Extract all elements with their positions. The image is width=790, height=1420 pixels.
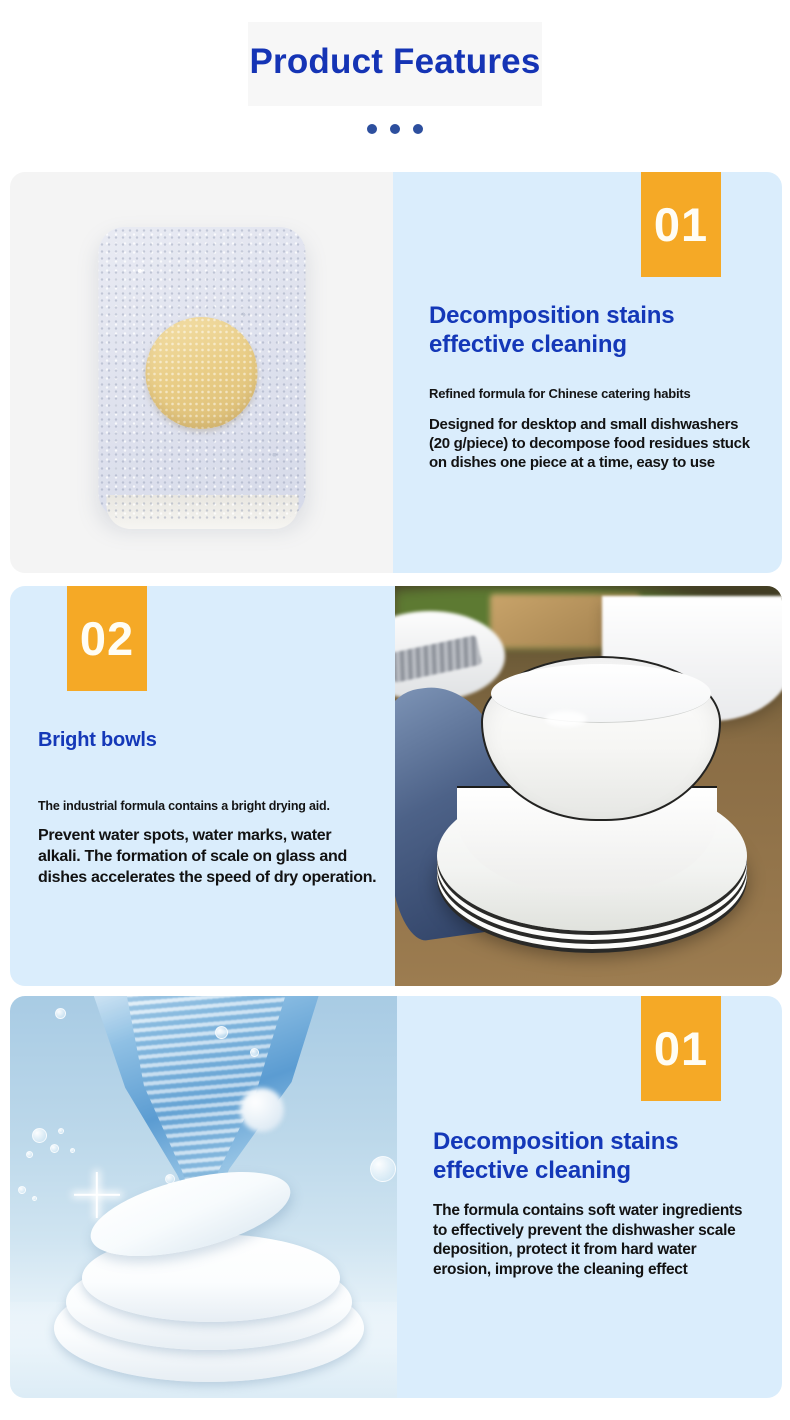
page-title: Product Features (0, 40, 790, 84)
feature-3-body: The formula contains soft water ingredie… (433, 1201, 758, 1279)
bubble-icon (370, 1156, 396, 1182)
bubble-icon (215, 1026, 228, 1039)
bubble-icon (32, 1128, 47, 1143)
feature-1-image (10, 172, 393, 573)
feature-2-body: Prevent water spots, water marks, water … (38, 825, 377, 888)
feature-3-text-panel: 01 Decomposition stains effective cleani… (397, 996, 782, 1398)
feature-card-2: 02 Bright bowls The industrial formula c… (10, 586, 782, 986)
bubble-icon (58, 1128, 64, 1134)
tablet-core-shape (146, 317, 258, 429)
feature-2-text-panel: 02 Bright bowls The industrial formula c… (10, 586, 395, 986)
dot-icon (390, 124, 400, 134)
clean-bowls-photo (395, 586, 782, 986)
bowl-highlight (545, 711, 587, 727)
bubble-icon (250, 1048, 259, 1057)
feature-1-text-panel: 01 Decomposition stains effective cleani… (393, 172, 782, 573)
feature-1-number-badge: 01 (641, 172, 721, 277)
feature-3-number-badge: 01 (641, 996, 721, 1101)
water-splash-plates-photo (10, 996, 397, 1398)
feature-2-number-badge: 02 (67, 586, 147, 691)
feature-3-copy: Decomposition stains effective cleaning … (433, 1127, 758, 1279)
feature-2-heading: Bright bowls (38, 728, 377, 753)
bubble-icon (70, 1148, 75, 1153)
feature-card-3: 01 Decomposition stains effective cleani… (10, 996, 782, 1398)
bubble-icon (55, 1008, 66, 1019)
dot-icon (367, 124, 377, 134)
feature-card-1: 01 Decomposition stains effective cleani… (10, 172, 782, 573)
feature-1-body: Designed for desktop and small dishwashe… (429, 415, 758, 472)
feature-3-heading: Decomposition stains effective cleaning (433, 1127, 758, 1185)
water-droplet-large (240, 1088, 284, 1132)
bubble-icon (26, 1151, 33, 1158)
dot-icon (413, 124, 423, 134)
bubble-icon (18, 1186, 26, 1194)
feature-2-copy: Bright bowls The industrial formula cont… (38, 728, 377, 888)
feature-1-subline: Refined formula for Chinese catering hab… (429, 385, 758, 402)
title-dots-ornament (0, 124, 790, 134)
sparkle-icon (74, 1172, 120, 1218)
feature-1-copy: Decomposition stains effective cleaning … (429, 301, 758, 472)
page-header: Product Features (0, 0, 790, 172)
feature-1-heading: Decomposition stains effective cleaning (429, 301, 758, 359)
bubble-icon (32, 1196, 37, 1201)
feature-3-image (10, 996, 397, 1398)
bubble-icon (50, 1144, 59, 1153)
feature-2-subline: The industrial formula contains a bright… (38, 798, 377, 815)
tablet-block-shape (98, 227, 305, 519)
dishwasher-tablet-photo (10, 172, 393, 573)
feature-2-image (395, 586, 782, 986)
